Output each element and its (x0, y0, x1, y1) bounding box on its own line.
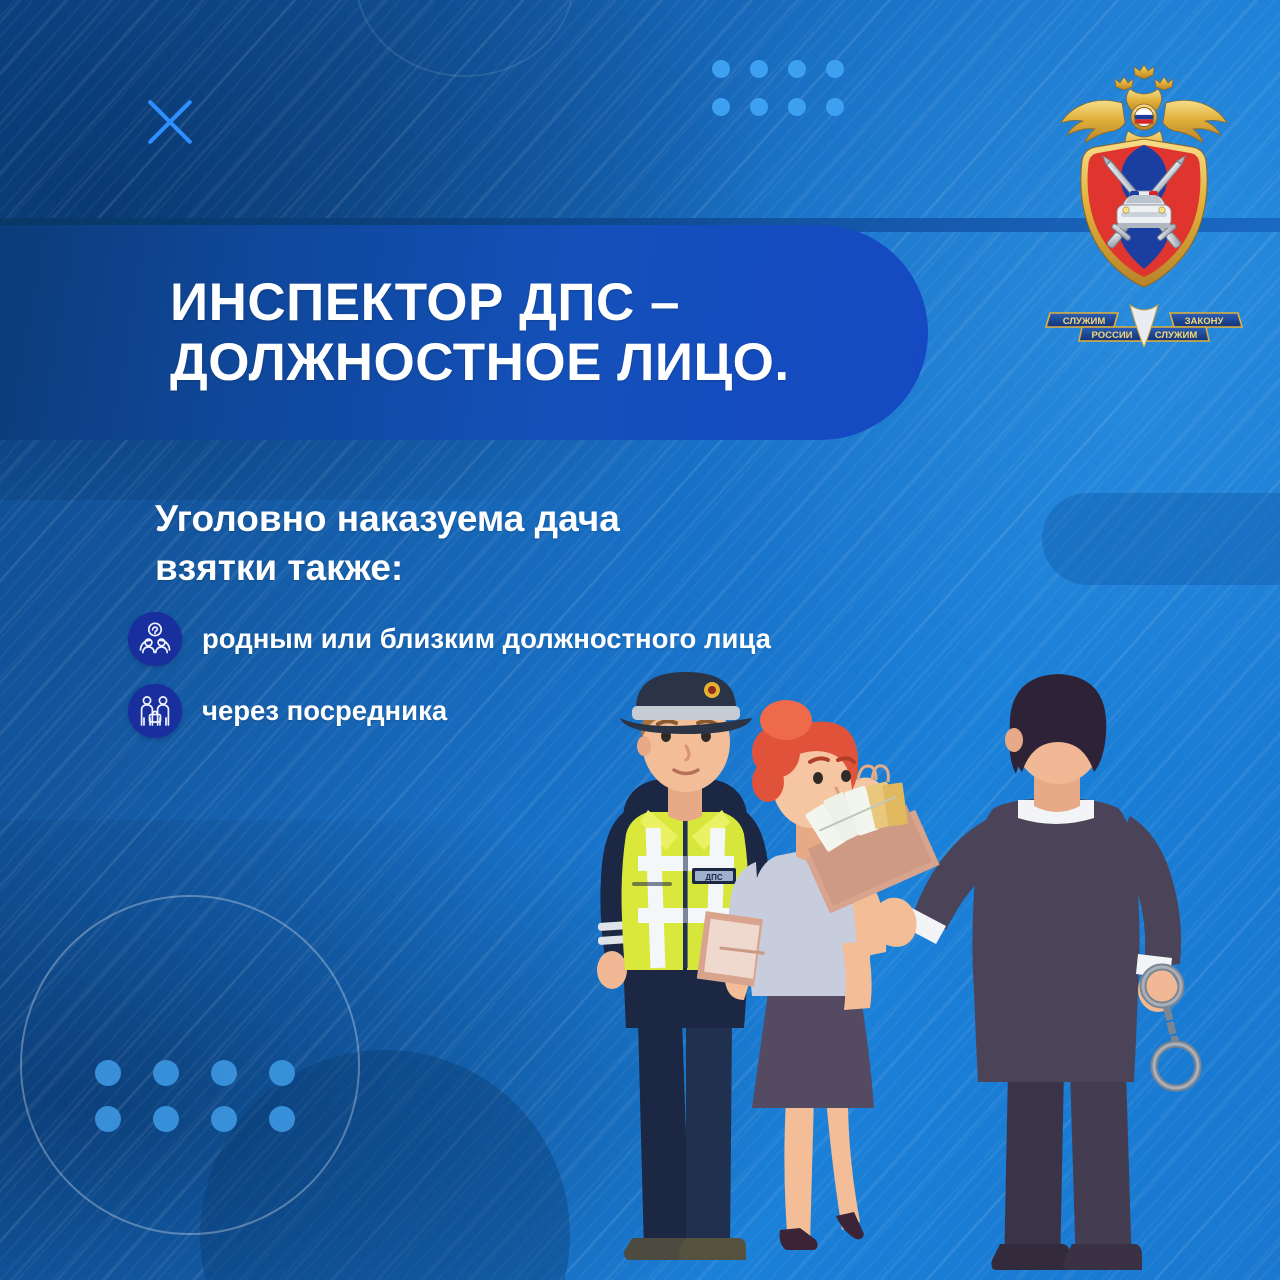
officer-badge-text: ДПС (705, 873, 722, 882)
ribbon-text-center-left: РОССИИ (1092, 330, 1133, 341)
poster-root: ИНСПЕКТОР ДПС – ДОЛЖНОСТНОЕ ЛИЦО. Уголов… (0, 0, 1280, 1280)
circle-outline-top (355, 0, 575, 77)
intermediary-persons-icon (128, 684, 182, 738)
ribbon-text-center-right: СЛУЖИМ (1155, 330, 1198, 341)
bullet-label: через посредника (202, 695, 447, 727)
ribbon-text-left: СЛУЖИМ (1063, 316, 1106, 327)
circle-outline-bottom (20, 895, 360, 1235)
list-item: родным или близким должностного лица (128, 612, 771, 666)
mvd-gibdd-emblem: СЛУЖИМ ЗАКОНУ РОССИИ СЛУЖИМ (1044, 55, 1244, 355)
dot-grid-bottom-left (95, 1060, 287, 1124)
circle-fill-bottom (200, 1050, 570, 1280)
pill-shape-right (1042, 493, 1280, 585)
ribbon-text-right: ЗАКОНУ (1185, 316, 1224, 327)
family-relatives-icon (128, 612, 182, 666)
x-cross-icon (140, 92, 200, 152)
bullet-label: родным или близким должностного лица (202, 623, 771, 655)
title-banner: ИНСПЕКТОР ДПС – ДОЛЖНОСТНОЕ ЛИЦО. (0, 225, 928, 440)
subtitle: Уголовно наказуема дача взятки также: (155, 495, 795, 593)
page-title: ИНСПЕКТОР ДПС – ДОЛЖНОСТНОЕ ЛИЦО. (0, 273, 790, 392)
dot-grid-top (712, 60, 844, 116)
bribery-scene-illustration: ДПС (590, 660, 1280, 1280)
